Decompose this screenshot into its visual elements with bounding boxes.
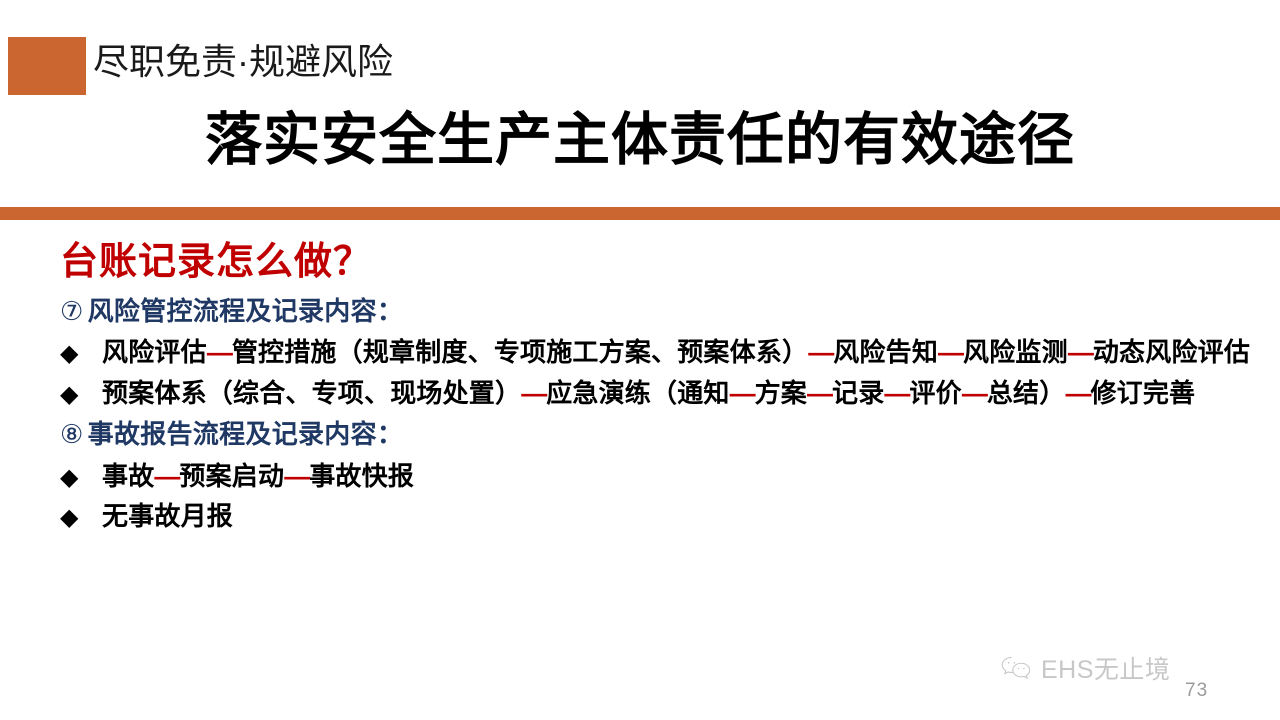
numbered-heading: ⑧事故报告流程及记录内容： <box>60 414 1260 454</box>
header-subtitle: 尽职免责·规避风险 <box>93 38 393 87</box>
bullet-text-segment: 预案体系（综合、专项、现场处置） <box>102 378 521 408</box>
bullet-text-segment: 总结） <box>987 378 1066 408</box>
bullet-item: ◆无事故月报 <box>60 497 1260 537</box>
wechat-icon <box>1000 655 1034 681</box>
bullet-text: 事故—预案启动—事故快报 <box>102 461 414 491</box>
red-dash-connector: — <box>154 461 179 491</box>
bullet-text-segment: 应急演练（通知 <box>546 378 729 408</box>
heading-label: 事故报告流程及记录内容： <box>88 419 404 449</box>
red-dash-connector: — <box>938 337 963 367</box>
bullet-text-segment: 管控措施（规章制度、专项施工方案、预案体系） <box>232 337 808 367</box>
content-body: ⑦风险管控流程及记录内容：◆风险评估—管控措施（规章制度、专项施工方案、预案体系… <box>60 291 1260 538</box>
bullet-item: ◆风险评估—管控措施（规章制度、专项施工方案、预案体系）—风险告知—风险监测—动… <box>60 333 1260 373</box>
red-dash-connector: — <box>730 378 755 408</box>
bullet-text-segment: 风险评估 <box>102 337 207 367</box>
bullet-text-segment: 动态风险评估 <box>1093 337 1250 367</box>
watermark-text: EHS无止境 <box>1041 650 1170 686</box>
red-dash-connector: — <box>1068 337 1093 367</box>
red-dash-connector: — <box>284 461 309 491</box>
bullet-text: 风险评估—管控措施（规章制度、专项施工方案、预案体系）—风险告知—风险监测—动态… <box>102 337 1250 367</box>
bullet-text-segment: 无事故月报 <box>102 501 233 531</box>
red-dash-connector: — <box>207 337 232 367</box>
bullet-text-segment: 记录 <box>832 378 884 408</box>
bullet-text-segment: 风险告知 <box>833 337 938 367</box>
red-dash-connector: — <box>1065 378 1090 408</box>
diamond-bullet-icon: ◆ <box>60 460 102 496</box>
bullet-item: ◆事故—预案启动—事故快报 <box>60 457 1260 497</box>
red-dash-connector: — <box>521 378 546 408</box>
red-dash-connector: — <box>808 337 833 367</box>
bullet-text-segment: 事故快报 <box>309 461 414 491</box>
red-dash-connector: — <box>807 378 832 408</box>
bullet-text-segment: 风险监测 <box>963 337 1068 367</box>
header-divider-bar <box>0 207 1280 220</box>
slide-root: 尽职免责·规避风险 落实安全生产主体责任的有效途径 台账记录怎么做？ ⑦风险管控… <box>0 0 1280 720</box>
heading-marker: ⑧ <box>60 419 84 449</box>
numbered-heading: ⑦风险管控流程及记录内容： <box>60 291 1260 331</box>
bullet-text-segment: 预案启动 <box>179 461 284 491</box>
page-title: 落实安全生产主体责任的有效途径 <box>0 108 1280 174</box>
heading-marker: ⑦ <box>60 296 84 326</box>
diamond-bullet-icon: ◆ <box>60 377 102 413</box>
diamond-bullet-icon: ◆ <box>60 500 102 536</box>
red-dash-connector: — <box>884 378 909 408</box>
bullet-item: ◆预案体系（综合、专项、现场处置）—应急演练（通知—方案—记录—评价—总结）—修… <box>60 374 1260 414</box>
heading-label: 风险管控流程及记录内容： <box>88 296 404 326</box>
bullet-text-segment: 方案 <box>755 378 807 408</box>
watermark: EHS无止境 <box>1000 650 1170 686</box>
section-heading: 台账记录怎么做？ <box>60 230 372 285</box>
red-dash-connector: — <box>962 378 987 408</box>
header-accent-block <box>8 37 86 95</box>
bullet-text-segment: 事故 <box>102 461 154 491</box>
diamond-bullet-icon: ◆ <box>60 336 102 372</box>
bullet-text: 预案体系（综合、专项、现场处置）—应急演练（通知—方案—记录—评价—总结）—修订… <box>102 378 1195 408</box>
bullet-text-segment: 修订完善 <box>1090 378 1195 408</box>
bullet-text: 无事故月报 <box>102 501 233 531</box>
bullet-text-segment: 评价 <box>909 378 961 408</box>
page-number: 73 <box>1185 680 1208 702</box>
